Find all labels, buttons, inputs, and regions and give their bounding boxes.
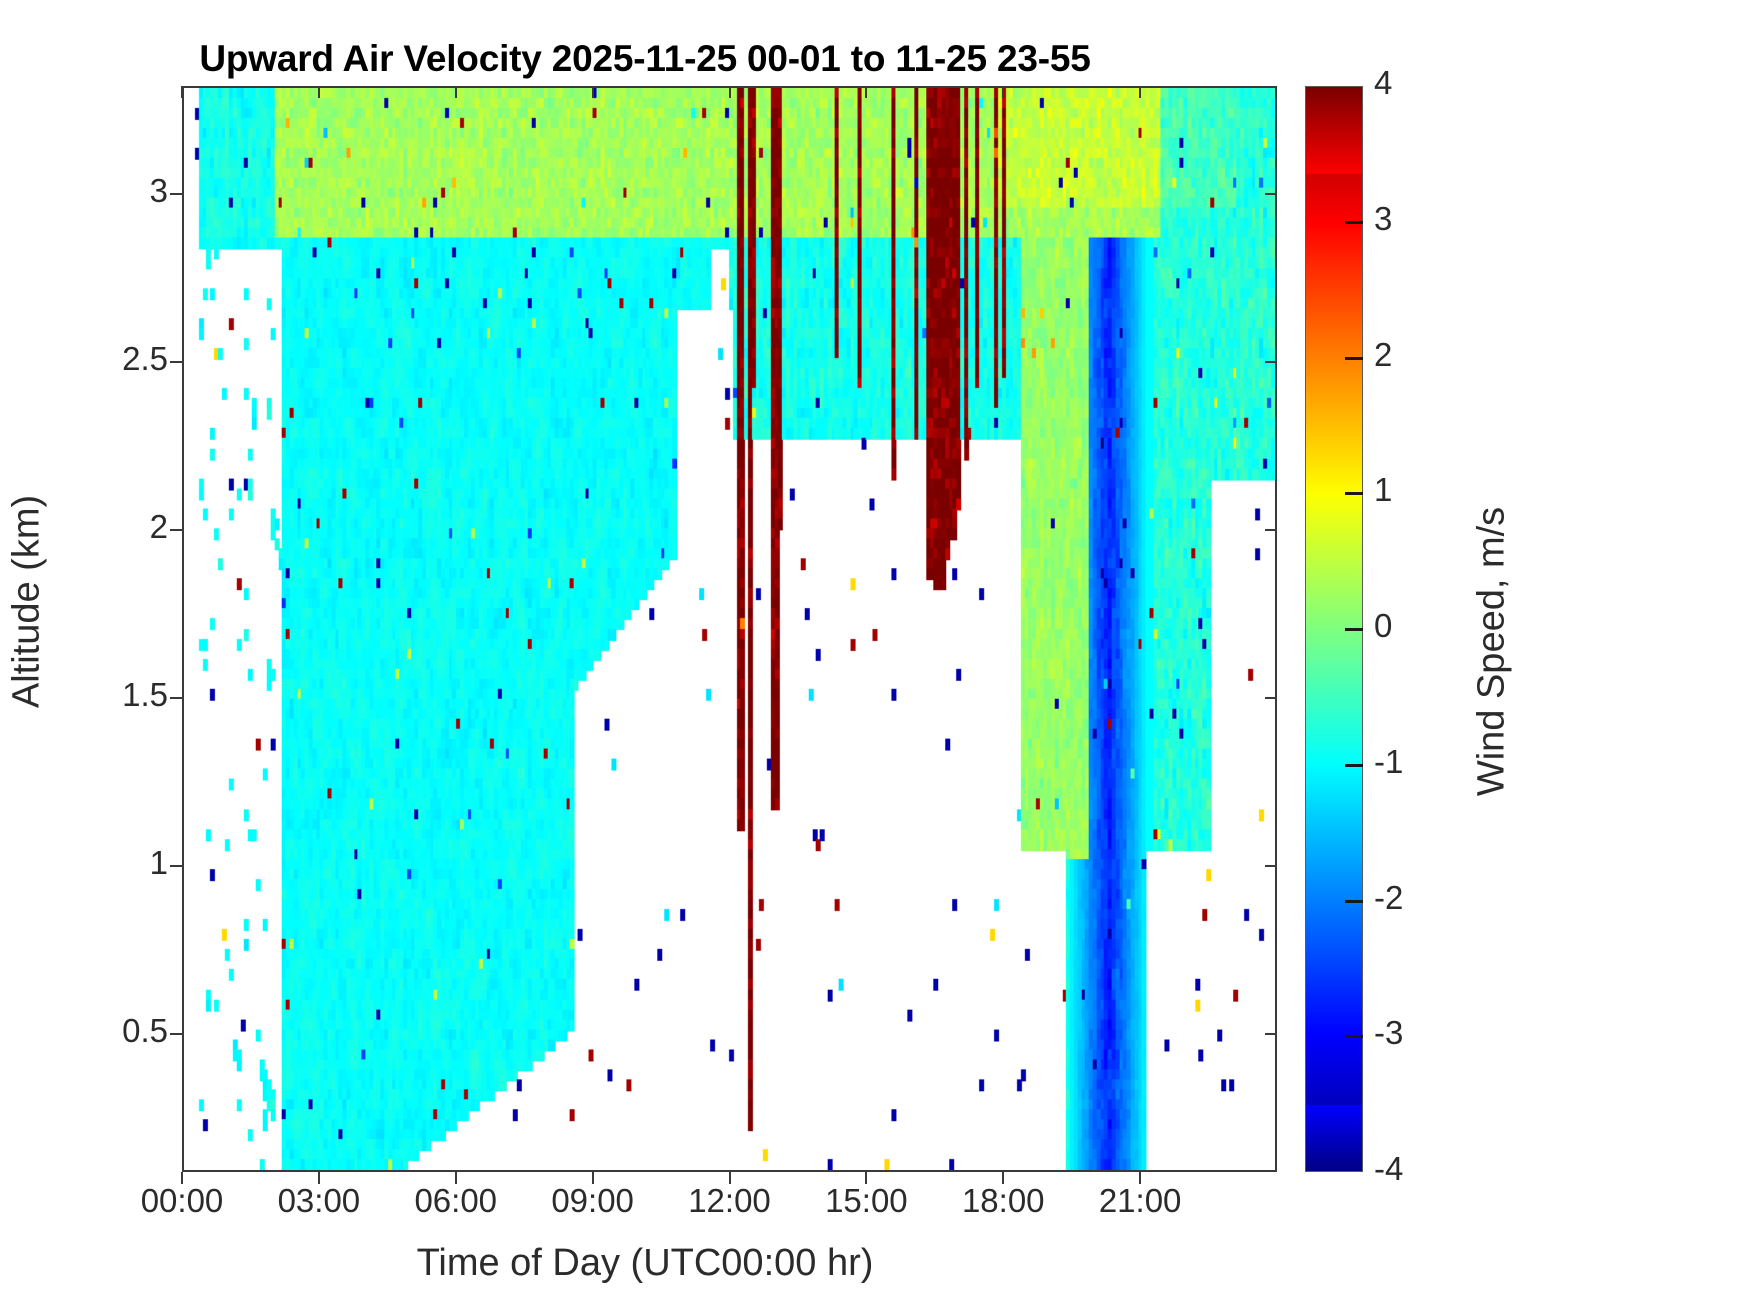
x-tick-label: 21:00	[1060, 1182, 1220, 1220]
y-tick-mark-right	[1265, 697, 1277, 699]
colorbar-tick-label: 2	[1374, 336, 1392, 374]
y-tick-mark	[170, 865, 182, 867]
y-tick-label: 2	[150, 508, 168, 546]
chart-title: Upward Air Velocity 2025-11-25 00-01 to …	[0, 38, 1290, 80]
colorbar-tick-mark	[1345, 221, 1363, 224]
y-tick-label: 1.5	[122, 676, 168, 714]
y-tick-mark-right	[1265, 193, 1277, 195]
colorbar-tick-mark	[1345, 900, 1363, 903]
colorbar-tick-mark	[1345, 764, 1363, 767]
x-tick-mark-top	[1139, 86, 1141, 98]
colorbar-tick-label: 3	[1374, 200, 1392, 238]
y-tick-mark-right	[1265, 529, 1277, 531]
x-axis-label: Time of Day (UTC00:00 hr)	[0, 1242, 1290, 1285]
x-tick-mark-top	[729, 86, 731, 98]
colorbar-tick-label: -2	[1374, 879, 1403, 917]
y-tick-mark	[170, 1033, 182, 1035]
heatmap-plot-area	[182, 86, 1277, 1172]
x-tick-mark-top	[1002, 86, 1004, 98]
y-tick-mark	[170, 361, 182, 363]
x-tick-mark-top	[592, 86, 594, 98]
colorbar-tick-mark	[1345, 1035, 1363, 1038]
y-tick-label: 2.5	[122, 340, 168, 378]
x-tick-mark-top	[865, 86, 867, 98]
colorbar-tick-mark	[1345, 357, 1363, 360]
colorbar-tick-mark	[1345, 628, 1363, 631]
colorbar-label: Wind Speed, m/s	[1471, 382, 1514, 922]
y-tick-mark	[170, 697, 182, 699]
y-tick-mark-right	[1265, 1033, 1277, 1035]
y-tick-mark	[170, 193, 182, 195]
colorbar-tick-label: -1	[1374, 743, 1403, 781]
colorbar-tick-label: 0	[1374, 607, 1392, 645]
x-tick-mark-top	[455, 86, 457, 98]
x-tick-mark-top	[181, 86, 183, 98]
colorbar-tick-label: 4	[1374, 64, 1392, 102]
y-tick-label: 0.5	[122, 1012, 168, 1050]
y-tick-mark	[170, 529, 182, 531]
y-tick-label: 1	[150, 844, 168, 882]
colorbar-tick-label: -4	[1374, 1150, 1403, 1188]
colorbar-tick-mark	[1345, 492, 1363, 495]
y-tick-mark-right	[1265, 361, 1277, 363]
heatmap-canvas	[184, 88, 1275, 1170]
x-tick-mark-top	[318, 86, 320, 98]
y-tick-label: 3	[150, 172, 168, 210]
y-axis-label: Altitude (km)	[6, 332, 49, 872]
colorbar-tick-label: -3	[1374, 1014, 1403, 1052]
y-tick-mark-right	[1265, 865, 1277, 867]
colorbar-tick-label: 1	[1374, 471, 1392, 509]
chart-page: Upward Air Velocity 2025-11-25 00-01 to …	[0, 0, 1750, 1313]
